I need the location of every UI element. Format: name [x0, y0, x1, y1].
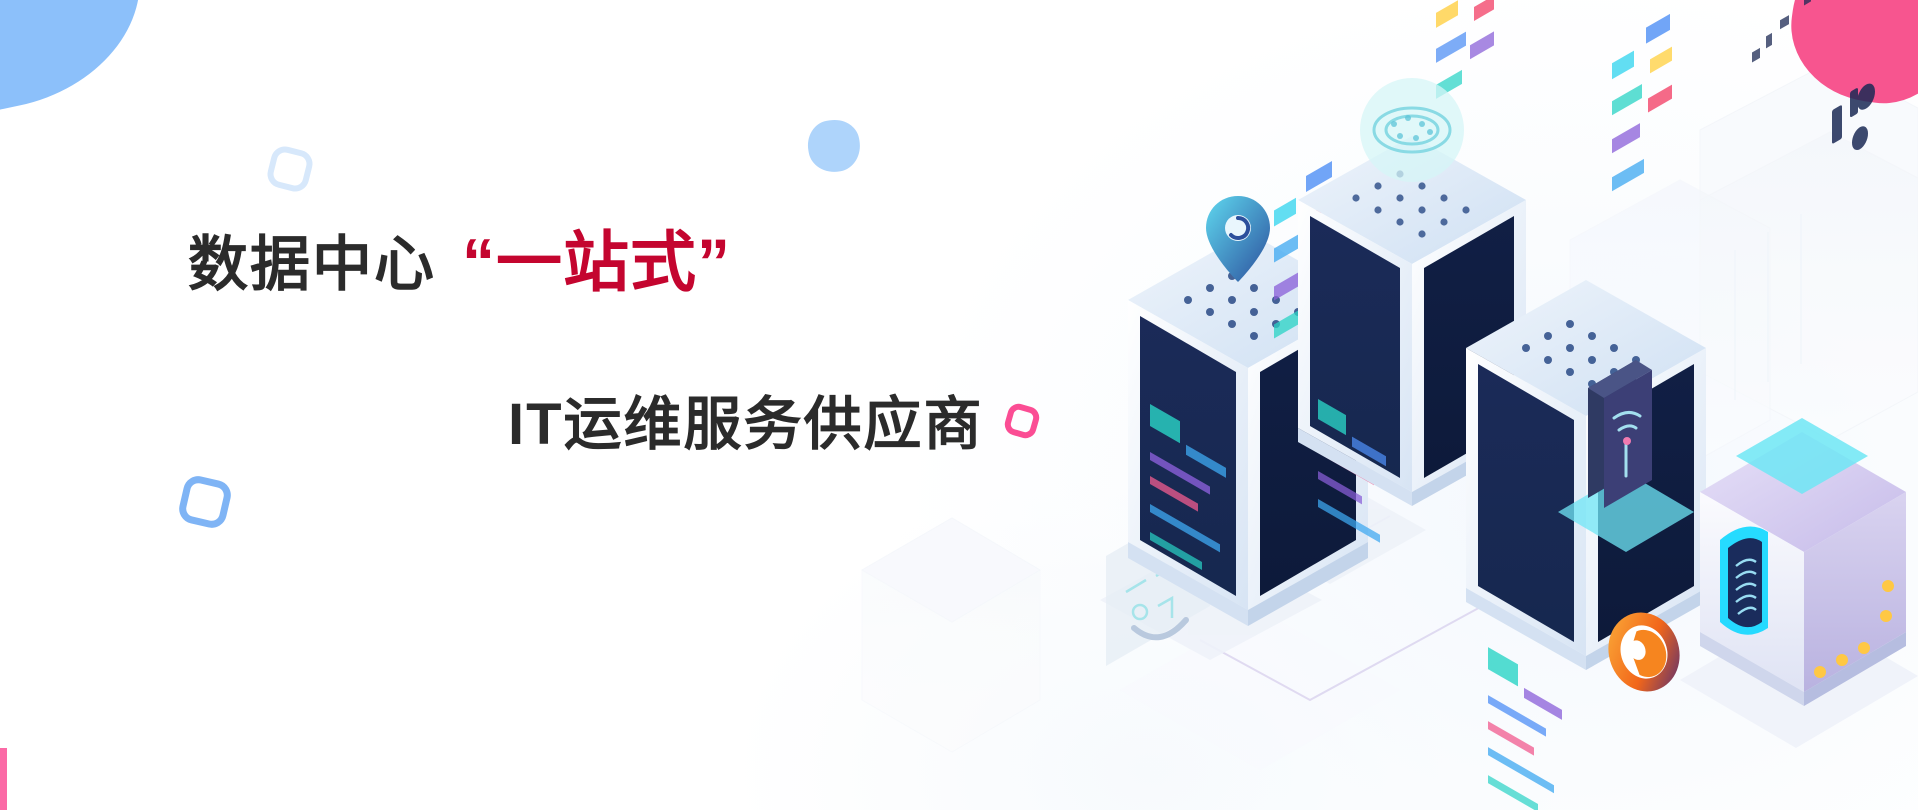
- isometric-data-center-illustration: [1060, 0, 1918, 810]
- server-rack-right: [1466, 14, 1706, 810]
- data-center-scene-icon: [1060, 0, 1918, 810]
- hero-banner: 数据中心 “一站式” IT运维服务供应商: [0, 0, 1918, 810]
- headline-line-two: IT运维服务供应商: [188, 394, 1108, 457]
- headline-dark-text: 数据中心: [188, 233, 436, 297]
- decor-ring-pale-blue: [265, 144, 316, 195]
- headline-block: 数据中心 “一站式” IT运维服务供应商: [188, 228, 1108, 457]
- data-disc-icon: [1360, 78, 1464, 182]
- headline-line-one: 数据中心 “一站式”: [188, 228, 1108, 298]
- decor-blob-top-left: [0, 0, 162, 136]
- decor-ring-blue: [176, 473, 234, 531]
- decor-bar-bottom-left: [0, 748, 7, 810]
- security-tower: [1680, 0, 1918, 748]
- headline-accent-text: “一站式”: [462, 228, 731, 298]
- decor-dot-blue: [804, 116, 864, 176]
